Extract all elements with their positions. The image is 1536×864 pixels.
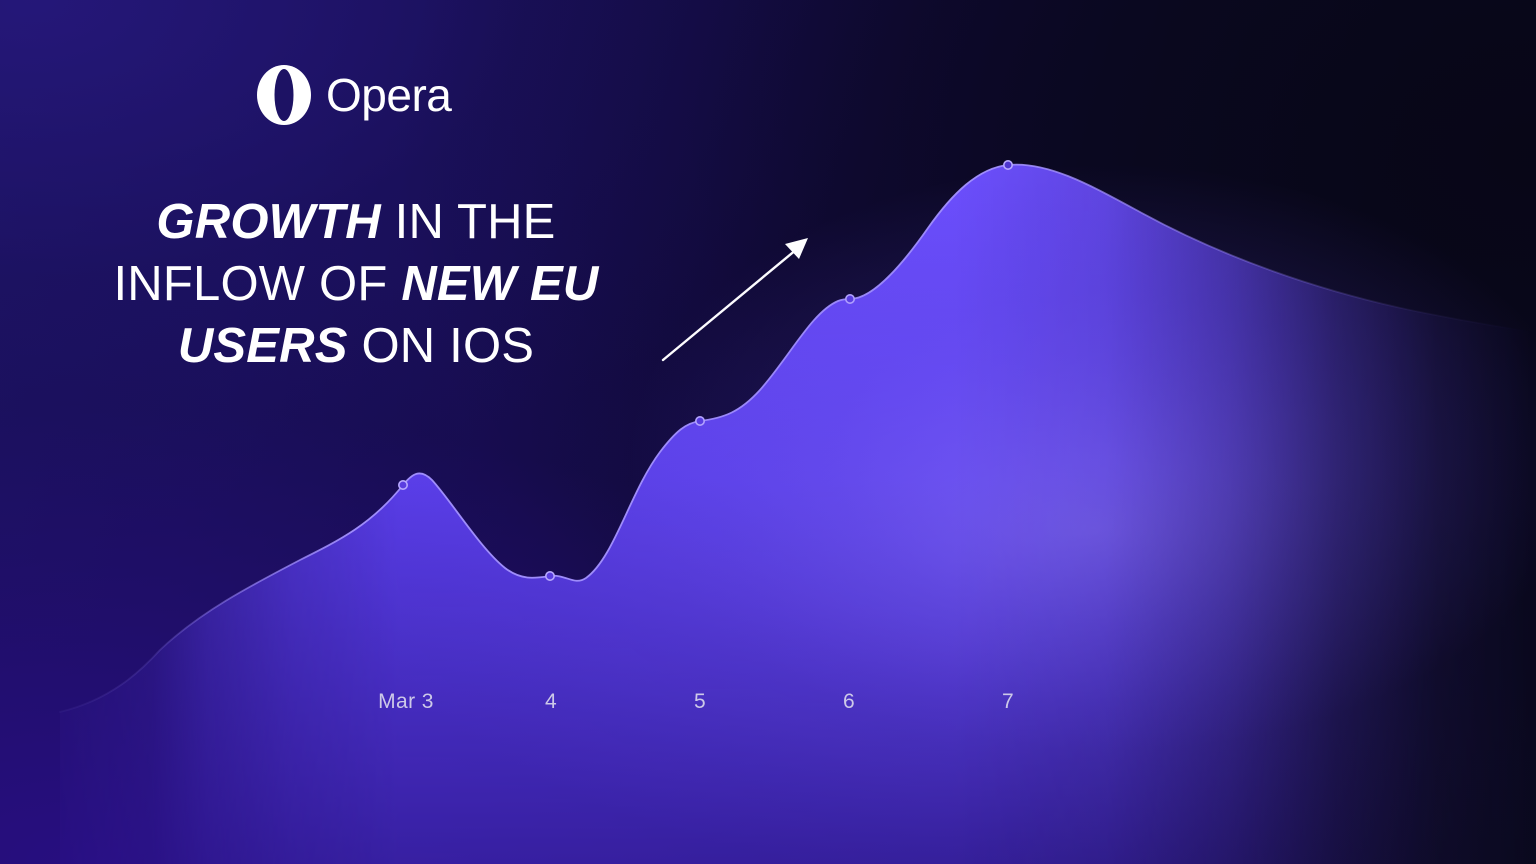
x-axis-tick-label: Mar 3 [378, 690, 434, 714]
headline-plain-2: ON IOS [348, 319, 535, 373]
headline-emphasis-growth: GROWTH [156, 195, 380, 249]
x-axis-tick-label: 7 [1002, 690, 1014, 714]
poster-canvas: Opera GROWTH IN THE INFLOW OF NEW EU USE… [0, 0, 1536, 864]
opera-wordmark: Opera [326, 72, 451, 118]
x-axis-tick-label: 4 [545, 690, 557, 714]
x-axis-tick-label: 5 [694, 690, 706, 714]
opera-o-icon [256, 64, 312, 126]
page-title: GROWTH IN THE INFLOW OF NEW EU USERS ON … [96, 191, 616, 377]
opera-logo[interactable]: Opera [256, 64, 451, 126]
x-axis-tick-label: 6 [843, 690, 855, 714]
center-glow-overlay [0, 0, 1536, 864]
